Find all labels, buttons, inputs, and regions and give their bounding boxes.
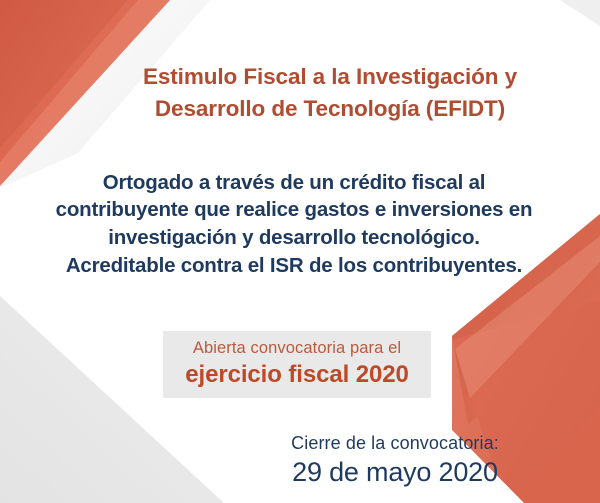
closing-label: Cierre de la convocatoria: bbox=[245, 432, 545, 455]
closing-block: Cierre de la convocatoria: 29 de mayo 20… bbox=[245, 432, 545, 490]
callout-headline: ejercicio fiscal 2020 bbox=[171, 361, 423, 390]
closing-date: 29 de mayo 2020 bbox=[245, 456, 545, 490]
page-title: Estimulo Fiscal a la Investigación y Des… bbox=[95, 61, 565, 125]
slide-content: Estimulo Fiscal a la Investigación y Des… bbox=[0, 0, 600, 503]
callout-subtitle: Abierta convocatoria para el bbox=[171, 338, 423, 359]
description-paragraph: Ortogado a través de un crédito fiscal a… bbox=[52, 169, 536, 281]
callout-box: Abierta convocatoria para el ejercicio f… bbox=[163, 331, 431, 398]
slide-canvas: Estimulo Fiscal a la Investigación y Des… bbox=[0, 0, 600, 503]
